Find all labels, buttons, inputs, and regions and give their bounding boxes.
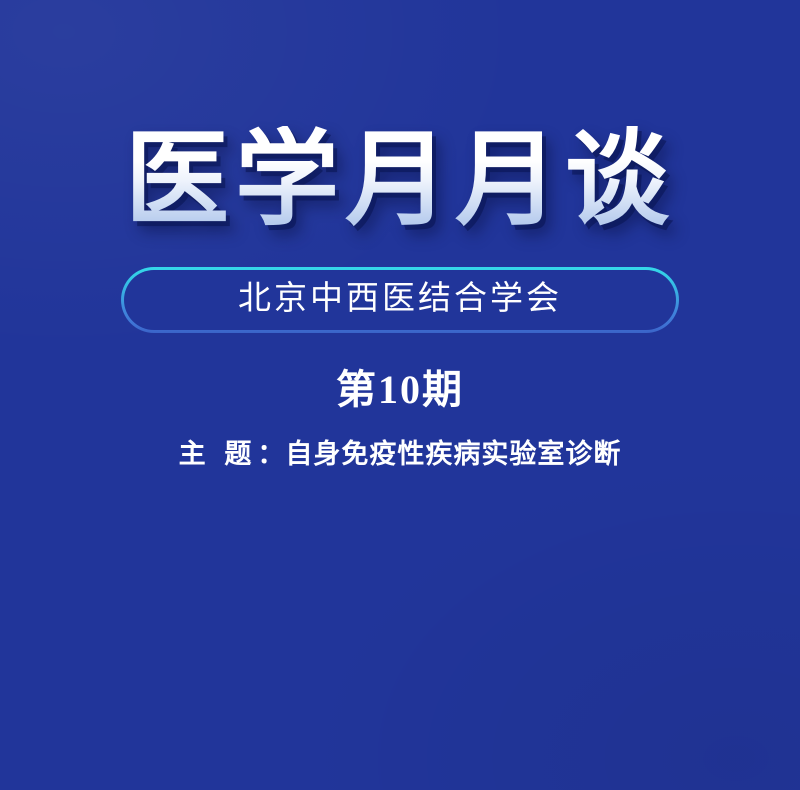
issue-number: 第10期 — [0, 368, 800, 412]
organization-pill: 北京中西医结合学会 — [121, 267, 679, 333]
theme-separator: ： — [257, 439, 285, 469]
theme-line: 主 题：自身免疫性疾病实验室诊断 — [0, 438, 800, 470]
theme-label: 主 题 — [179, 439, 258, 469]
title-block: 医学月月谈 — [0, 126, 800, 240]
poster-slide: 医学月月谈 北京中西医结合学会 第10期 主 题：自身免疫性疾病实验室诊断 — [0, 0, 800, 790]
theme-value: 自身免疫性疾病实验室诊断 — [285, 439, 621, 469]
page-title: 医学月月谈 — [125, 126, 675, 240]
organization-name: 北京中西医结合学会 — [238, 283, 562, 318]
